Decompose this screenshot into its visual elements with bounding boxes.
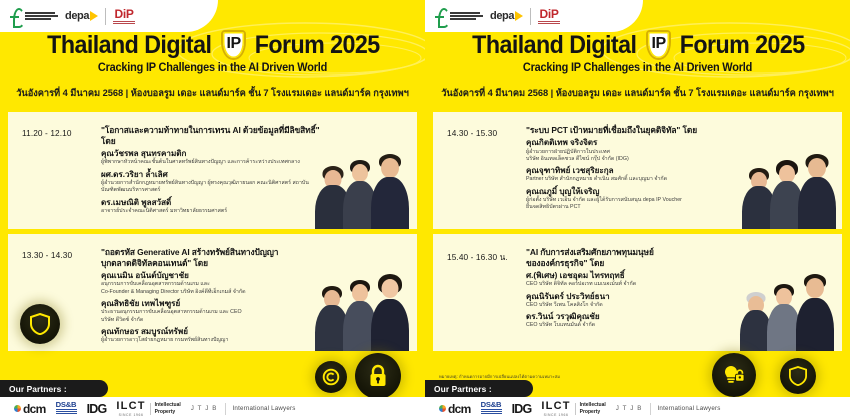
speaker-entry: คุณณภูมิ์ บุญให้เจริญ ผู้ก่อตั้ง บริษัท … bbox=[526, 187, 746, 212]
speaker-photo-group bbox=[740, 234, 840, 351]
agenda-area: 11.20 - 12.10 "โอกาสและความท้าทายในการเท… bbox=[0, 108, 425, 420]
ilct-logo: ILCT SINCE 1966 Intellectual Property bbox=[116, 401, 180, 417]
depa-logo: depa bbox=[490, 10, 523, 22]
speaker-entry: ศ.(พิเศษ) เอชอุดม ไทรทฤทธิ์ CEO บริษัท ด… bbox=[526, 271, 746, 289]
session-card: 13.30 - 14.30 "ถอดรหัส Generative AI สร้… bbox=[8, 234, 417, 351]
session-content: "โอกาสและความท้าทายในการเทรน AI ด้วยข้อม… bbox=[101, 125, 321, 215]
dsb-subtext bbox=[481, 409, 502, 414]
speaker-name: คุณเนมิน อนันต์บัญชาชัย bbox=[101, 271, 321, 281]
speaker-entry: คุณสิทธิชัย เทพไพฑูรย์ ประธานอนุกรรมการข… bbox=[101, 299, 321, 324]
speaker-name: คุณจุฑาทิพย์ เวชสุริยะกุล bbox=[526, 166, 746, 176]
dsb-wordmark: DS&B bbox=[481, 401, 502, 409]
jtjb-tagline: International Lawyers bbox=[658, 405, 721, 412]
ip-shield-icon: IP bbox=[221, 30, 246, 60]
title-part-2: Forum 2025 bbox=[255, 33, 380, 58]
agenda-area: 14.30 - 15.30 "ระบบ PCT เป้าหมายที่เชื่อ… bbox=[425, 108, 850, 420]
partners-footer: Our Partners : dcm DS&B IDG bbox=[425, 380, 850, 420]
dip-logo: DiP bbox=[538, 8, 560, 25]
slide-right: depa DiP Thailand Digital IP Forum 2025 bbox=[425, 0, 850, 420]
jtjb-divider bbox=[650, 403, 651, 415]
idg-wordmark: IDG bbox=[512, 402, 532, 416]
event-dateline: วันอังคารที่ 4 มีนาคม 2568 | ห้องบอลรูม … bbox=[425, 86, 850, 101]
partner-logo-row: depa DiP bbox=[10, 4, 135, 28]
our-partners-tab: Our Partners : bbox=[0, 380, 108, 397]
ilct-practice-label: Intellectual Property bbox=[580, 402, 606, 415]
slide-left: depa DiP Thailand Digital IP Forum 2025 bbox=[0, 0, 425, 420]
speaker-photo-group bbox=[740, 112, 840, 229]
depa-arrow-icon bbox=[90, 11, 98, 21]
ilct-wordmark: ILCT bbox=[541, 400, 570, 412]
ilct-since-label: SINCE 1966 bbox=[544, 413, 569, 417]
title-part-1: Thailand Digital bbox=[472, 33, 636, 58]
session-card: 11.20 - 12.10 "โอกาสและความท้าทายในการเท… bbox=[8, 112, 417, 229]
ilct-divider bbox=[150, 403, 151, 415]
shield-icon bbox=[20, 304, 60, 344]
event-dateline: วันอังคารที่ 4 มีนาคม 2568 | ห้องบอลรูม … bbox=[0, 86, 425, 101]
speaker-name: คุณณภูมิ์ บุญให้เจริญ bbox=[526, 187, 746, 197]
speaker-entry: คุณเนมิน อนันต์บัญชาชัย อนุกรรมการขับเคล… bbox=[101, 271, 321, 296]
speaker-photo bbox=[371, 155, 409, 229]
speaker-entry: ดร.วินน์ วรวุฒิคุณชัย CEO บริษัท โบแทนมั… bbox=[526, 312, 746, 330]
our-partners-label: Our Partners : bbox=[434, 384, 492, 394]
session-topic: "โอกาสและความท้าทายในการเทรน AI ด้วยข้อม… bbox=[101, 125, 321, 147]
slide-header: depa DiP Thailand Digital IP Forum 2025 bbox=[0, 0, 425, 108]
idg-logo: IDG bbox=[512, 401, 532, 417]
dcm-wordmark: dcm bbox=[23, 402, 46, 416]
slide-pair: depa DiP Thailand Digital IP Forum 2025 bbox=[0, 0, 850, 420]
logo-divider bbox=[530, 8, 531, 25]
speaker-role: ผู้อำนวยการอาวุโสฝ่ายกฎหมาย กรมทรัพย์สิน… bbox=[101, 337, 321, 345]
depa-wordmark: depa bbox=[490, 10, 514, 22]
speaker-role: ประธานอนุกรรมการขับเคลื่อนอุตสาหกรรมด้าน… bbox=[101, 309, 321, 324]
session-content: "ถอดรหัส Generative AI สร้างทรัพย์สินทาง… bbox=[101, 247, 321, 345]
dip-subtext bbox=[113, 21, 135, 25]
speaker-name: คุณวัชรพล สุนทรคามติก bbox=[101, 149, 321, 159]
speaker-name: คุณนิรันดร์ ประวิทย์ธนา bbox=[526, 292, 746, 302]
ilct-practice-label: Intellectual Property bbox=[155, 402, 181, 415]
ip-badge-label: IP bbox=[221, 30, 246, 60]
speaker-role: CEO บริษัท โบแทนมันด์ จำกัด bbox=[526, 322, 746, 330]
session-content: "ระบบ PCT เป้าหมายที่เชื่อมถึงในยุคดิจิท… bbox=[526, 125, 746, 212]
speaker-name: ดร.เมษณิติ พูลสวัสดิ์ bbox=[101, 198, 321, 208]
speaker-photo bbox=[371, 275, 409, 351]
ip-shield-icon: IP bbox=[646, 30, 671, 60]
speaker-role: ผู้พิพากษาหัวหน้าคณะชั้นต้นในศาลทรัพย์สิ… bbox=[101, 159, 321, 167]
ministry-emblem-icon bbox=[10, 8, 23, 25]
title-part-2: Forum 2025 bbox=[680, 33, 805, 58]
speaker-role: Partner บริษัท สำนักกฎหมาย ดำเนิน สมศักด… bbox=[526, 176, 746, 184]
depa-arrow-icon bbox=[515, 11, 523, 21]
ilct-logo: ILCT SINCE 1966 Intellectual Property bbox=[541, 401, 605, 417]
event-subtitle: Cracking IP Challenges in the AI Driven … bbox=[11, 62, 415, 74]
speaker-role: CEO บริษัท ดิจิทัล คอร์ปอเรท แมเนจเม้นท์… bbox=[526, 281, 746, 289]
speaker-name: คุณสิทธิชัย เทพไพฑูรย์ bbox=[101, 299, 321, 309]
ministry-of-digital-economy-and-society-logo bbox=[10, 8, 58, 24]
session-time: 14.30 - 15.30 bbox=[447, 128, 497, 138]
jtjb-divider bbox=[225, 403, 226, 415]
speaker-name: ดร.วินน์ วรวุฒิคุณชัย bbox=[526, 312, 746, 322]
session-time: 15.40 - 16.30 น. bbox=[447, 250, 508, 264]
idg-wordmark: IDG bbox=[87, 402, 107, 416]
speaker-name: คุณทักษอร สมบูรณ์ทรัพย์ bbox=[101, 327, 321, 337]
speaker-entry: คุณวัชรพล สุนทรคามติก ผู้พิพากษาหัวหน้าค… bbox=[101, 149, 321, 167]
speaker-photo-group bbox=[315, 234, 415, 351]
dcm-wordmark: dcm bbox=[448, 402, 471, 416]
jtjb-tagline: International Lawyers bbox=[233, 405, 296, 412]
session-time: 11.20 - 12.10 bbox=[22, 128, 72, 138]
jtjb-wordmark: J T J B bbox=[191, 405, 218, 412]
our-partners-label: Our Partners : bbox=[9, 384, 67, 394]
our-partners-tab: Our Partners : bbox=[425, 380, 533, 397]
speaker-role: ผู้อำนวยการฝ่ายปฏิบัติการในประเทศ บริษัท… bbox=[526, 149, 746, 164]
dip-wordmark: DiP bbox=[540, 8, 559, 20]
ministry-emblem-icon bbox=[435, 8, 448, 25]
title-block: Thailand Digital IP Forum 2025 Cracking … bbox=[0, 30, 425, 74]
speaker-entry: คุณจุฑาทิพย์ เวชสุริยะกุล Partner บริษัท… bbox=[526, 166, 746, 184]
session-content: "AI กับการส่งเสริมศักยภาพทุนมนุษย์ ขององ… bbox=[526, 247, 746, 330]
partner-logo-row: depa DiP bbox=[435, 4, 560, 28]
ip-badge-label: IP bbox=[646, 30, 671, 60]
speaker-role: ผู้ก่อตั้ง บริษัท เวเอ็น จำกัด และผู้ได้… bbox=[526, 197, 746, 212]
ministry-wordmark bbox=[25, 12, 58, 20]
jtjb-wordmark: J T J B bbox=[616, 405, 643, 412]
depa-logo: depa bbox=[65, 10, 98, 22]
dcm-logo: dcm bbox=[14, 401, 46, 417]
speaker-name: คุณกิตติเทพ จริงจิตร bbox=[526, 138, 746, 148]
dip-wordmark: DiP bbox=[115, 8, 134, 20]
dsb-subtext bbox=[56, 409, 77, 414]
speaker-role: ผู้อำนวยการสำนักกฎหมายทรัพย์สินทางปัญญา … bbox=[101, 180, 321, 195]
speaker-photo bbox=[796, 275, 834, 351]
ilct-wordmark: ILCT bbox=[116, 400, 145, 412]
idg-logo: IDG bbox=[87, 401, 107, 417]
speaker-role: CEO บริษัท วีเพน โคลสิงโก จำกัด bbox=[526, 302, 746, 310]
depa-wordmark: depa bbox=[65, 10, 89, 22]
ministry-wordmark bbox=[450, 12, 483, 20]
dip-subtext bbox=[538, 21, 560, 25]
speaker-name: ผศ.ดร.วริยา ล้ำเลิศ bbox=[101, 170, 321, 180]
event-subtitle: Cracking IP Challenges in the AI Driven … bbox=[436, 62, 840, 74]
speaker-photo-group bbox=[315, 112, 415, 229]
dsb-wordmark: DS&B bbox=[56, 401, 77, 409]
session-topic: "ระบบ PCT เป้าหมายที่เชื่อมถึงในยุคดิจิท… bbox=[526, 125, 746, 136]
session-card: 15.40 - 16.30 น. "AI กับการส่งเสริมศักยภ… bbox=[433, 234, 842, 351]
shield-glyph bbox=[30, 313, 50, 335]
dcm-logo: dcm bbox=[439, 401, 471, 417]
dip-logo: DiP bbox=[113, 8, 135, 25]
session-card: 14.30 - 15.30 "ระบบ PCT เป้าหมายที่เชื่อ… bbox=[433, 112, 842, 229]
logo-divider bbox=[105, 8, 106, 25]
jtjb-logo: J T J B International Lawyers bbox=[191, 401, 296, 417]
dsb-logo: DS&B bbox=[481, 401, 502, 417]
speaker-entry: ดร.เมษณิติ พูลสวัสดิ์ อาจารย์ประจำคณะนิต… bbox=[101, 198, 321, 216]
partners-footer: Our Partners : dcm DS&B IDG bbox=[0, 380, 425, 420]
speaker-entry: ผศ.ดร.วริยา ล้ำเลิศ ผู้อำนวยการสำนักกฎหม… bbox=[101, 170, 321, 195]
ilct-divider bbox=[575, 403, 576, 415]
ministry-of-digital-economy-and-society-logo bbox=[435, 8, 483, 24]
session-topic: "AI กับการส่งเสริมศักยภาพทุนมนุษย์ ขององ… bbox=[526, 247, 746, 269]
partner-logo-strip: dcm DS&B IDG ILCT SINCE 1966 bbox=[0, 397, 425, 420]
dcm-mark-icon bbox=[439, 405, 446, 412]
dsb-logo: DS&B bbox=[56, 401, 77, 417]
speaker-photo bbox=[798, 155, 836, 229]
speaker-role: อาจารย์ประจำคณะนิติศาสตร์ มหาวิทยาลัยธรร… bbox=[101, 208, 321, 216]
speaker-entry: คุณกิตติเทพ จริงจิตร ผู้อำนวยการฝ่ายปฏิบ… bbox=[526, 138, 746, 163]
slide-header: depa DiP Thailand Digital IP Forum 2025 bbox=[425, 0, 850, 108]
speaker-name: ศ.(พิเศษ) เอชอุดม ไทรทฤทธิ์ bbox=[526, 271, 746, 281]
session-topic: "ถอดรหัส Generative AI สร้างทรัพย์สินทาง… bbox=[101, 247, 321, 269]
partner-logo-strip: dcm DS&B IDG ILCT SINCE 1966 bbox=[425, 397, 850, 420]
ilct-since-label: SINCE 1966 bbox=[119, 413, 144, 417]
dcm-mark-icon bbox=[14, 405, 21, 412]
session-time: 13.30 - 14.30 bbox=[22, 250, 72, 260]
jtjb-logo: J T J B International Lawyers bbox=[616, 401, 721, 417]
speaker-role: อนุกรรมการขับเคลื่อนอุตสาหกรรมด้านเกม แล… bbox=[101, 281, 321, 296]
speaker-entry: คุณทักษอร สมบูรณ์ทรัพย์ ผู้อำนวยการอาวุโ… bbox=[101, 327, 321, 345]
title-block: Thailand Digital IP Forum 2025 Cracking … bbox=[425, 30, 850, 74]
title-part-1: Thailand Digital bbox=[47, 33, 211, 58]
speaker-entry: คุณนิรันดร์ ประวิทย์ธนา CEO บริษัท วีเพน… bbox=[526, 292, 746, 310]
